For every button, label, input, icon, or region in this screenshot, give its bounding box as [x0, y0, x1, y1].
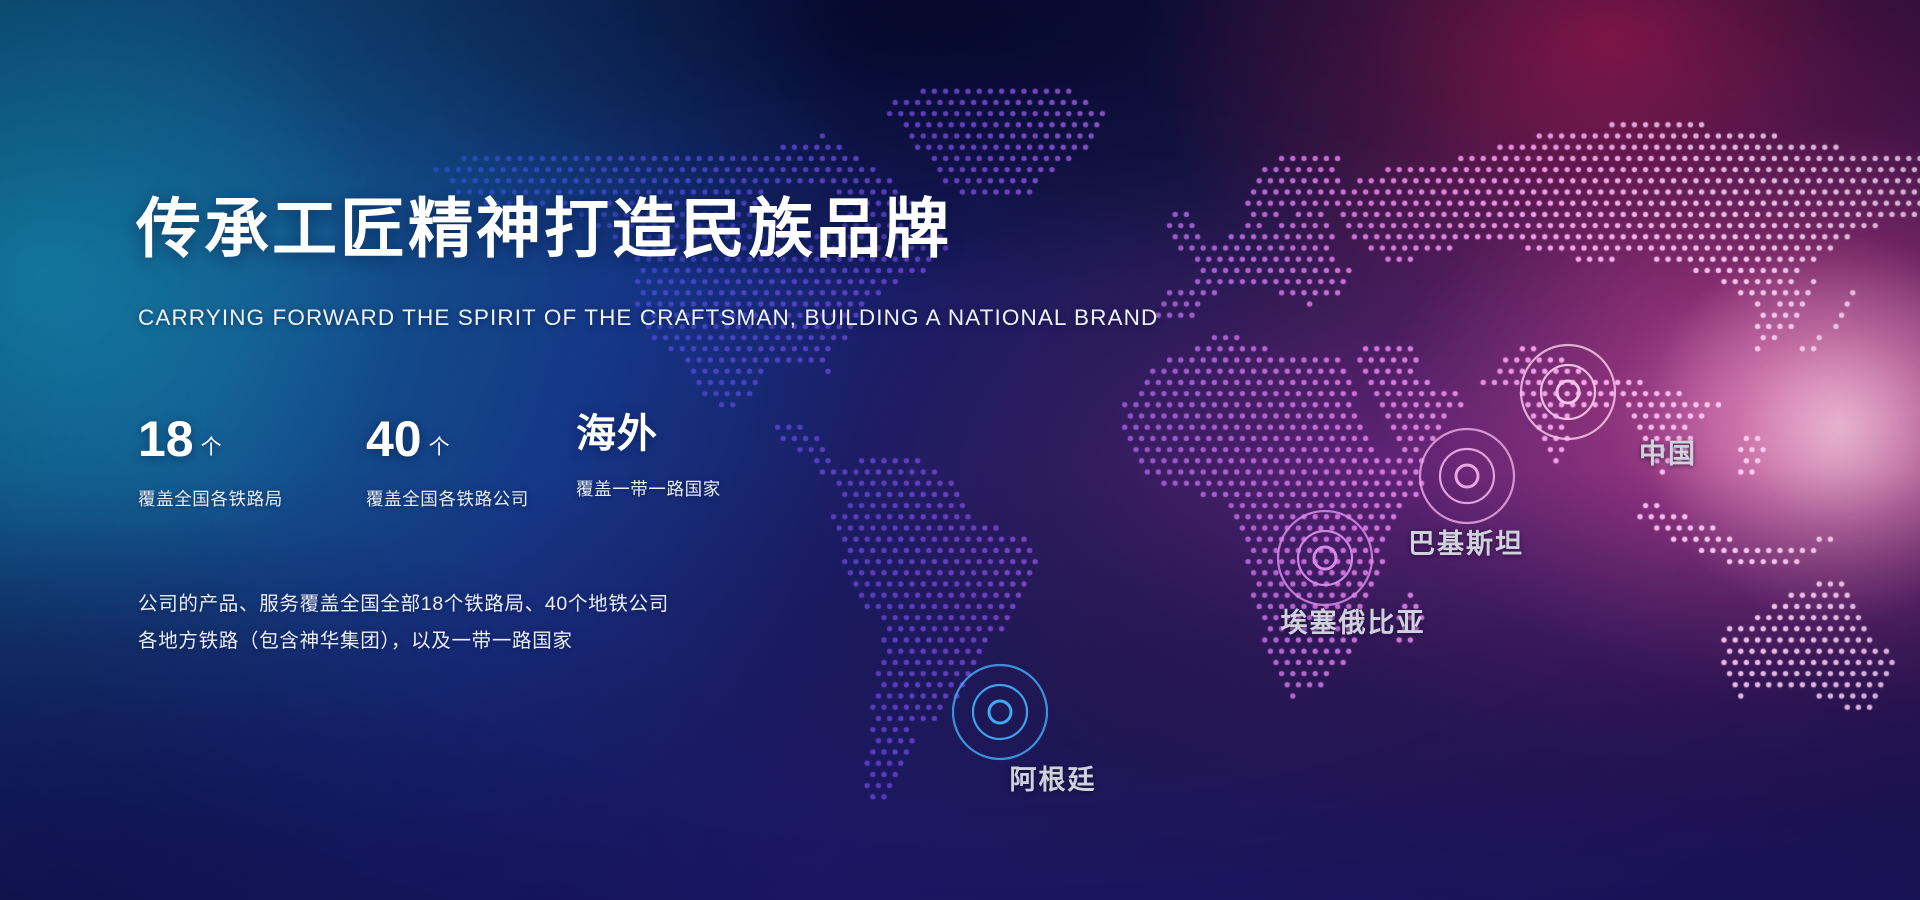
banner-stage: 中国巴基斯坦埃塞俄比亚阿根廷 传承工匠精神打造民族品牌 CARRYING FOR… [0, 0, 1920, 900]
stat-unit: 个 [201, 436, 222, 459]
banner-content: 传承工匠精神打造民族品牌 CARRYING FORWARD THE SPIRIT… [136, 0, 1036, 900]
stat-item: 18个覆盖全国各铁路局 [138, 414, 283, 511]
stat-description: 覆盖全国各铁路局 [138, 486, 283, 511]
stat-value: 18个 [138, 414, 283, 464]
stat-item: 海外覆盖一带一路国家 [576, 414, 721, 501]
page-title: 传承工匠精神打造民族品牌 [136, 196, 952, 261]
stat-value: 海外 [576, 414, 721, 454]
map-marker-埃塞俄比亚[interactable] [1265, 498, 1385, 618]
stat-description: 覆盖全国各铁路公司 [366, 486, 529, 511]
description-line: 公司的产品、服务覆盖全国全部18个铁路局、40个地铁公司 [138, 586, 669, 623]
description-text: 公司的产品、服务覆盖全国全部18个铁路局、40个地铁公司各地方铁路（包含神华集团… [138, 586, 669, 659]
stat-item: 40个覆盖全国各铁路公司 [366, 414, 529, 511]
map-marker-巴基斯坦[interactable] [1407, 416, 1527, 536]
stat-unit: 个 [429, 436, 450, 459]
stat-description: 覆盖一带一路国家 [576, 476, 721, 501]
stat-value: 40个 [366, 414, 529, 464]
description-line: 各地方铁路（包含神华集团），以及一带一路国家 [138, 623, 669, 660]
map-marker-label: 中国 [1639, 432, 1697, 471]
stats-row: 18个覆盖全国各铁路局40个覆盖全国各铁路公司海外覆盖一带一路国家 [138, 414, 898, 514]
map-marker-label: 埃塞俄比亚 [1281, 601, 1426, 640]
map-marker-label: 巴基斯坦 [1408, 522, 1524, 561]
page-subtitle: CARRYING FORWARD THE SPIRIT OF THE CRAFT… [138, 305, 1158, 331]
